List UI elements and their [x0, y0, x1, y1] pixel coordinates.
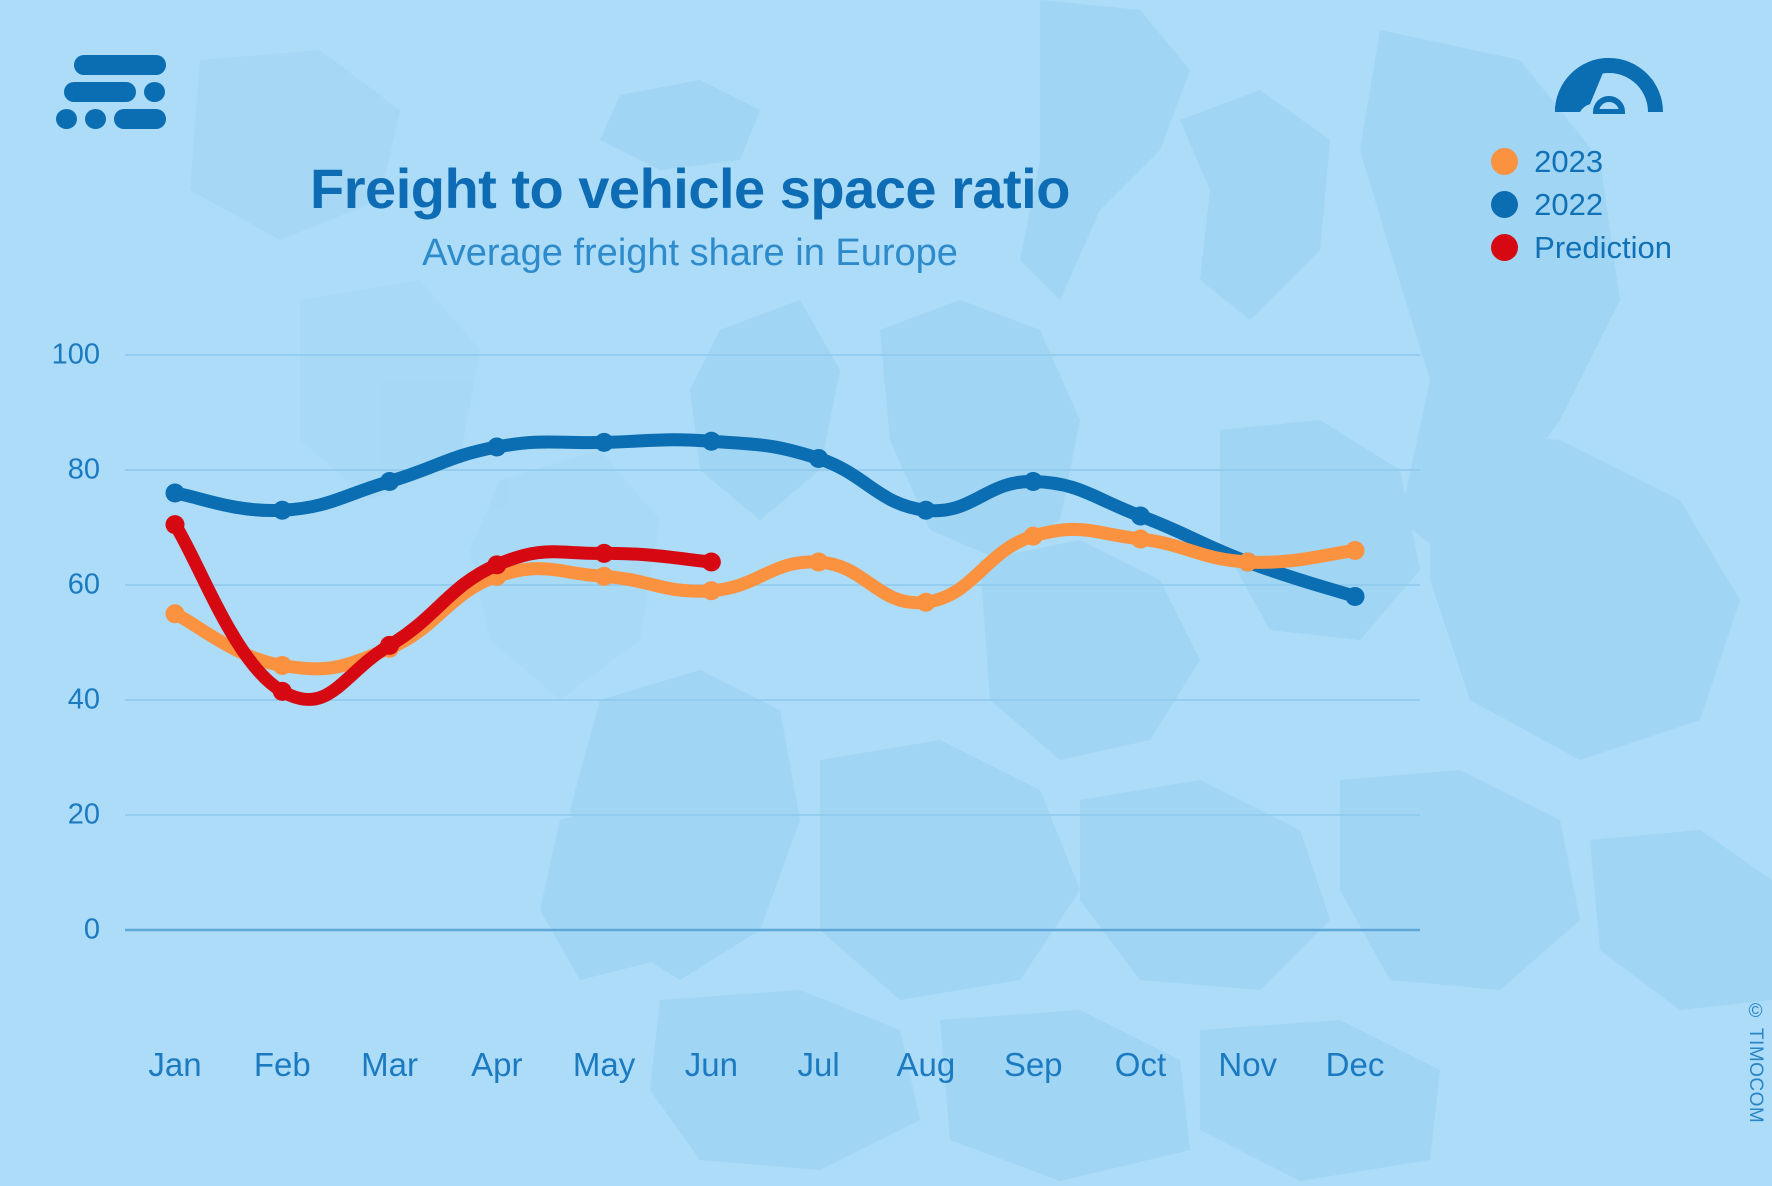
data-point: [1346, 587, 1365, 606]
data-point: [1131, 530, 1150, 549]
data-point: [702, 432, 721, 451]
x-tick-label-oct: Oct: [1080, 1046, 1200, 1084]
x-tick-label-nov: Nov: [1188, 1046, 1308, 1084]
y-tick-label: 60: [10, 569, 100, 602]
data-point: [1024, 472, 1043, 491]
x-tick-label-jun: Jun: [651, 1046, 771, 1084]
data-point: [1131, 507, 1150, 526]
data-point: [1346, 541, 1365, 560]
y-tick-label: 40: [10, 684, 100, 717]
y-tick-label: 0: [10, 914, 100, 947]
line-chart: 020406080100 JanFebMarAprMayJunJulAugSep…: [0, 0, 1772, 1181]
data-point: [595, 544, 614, 563]
series-2023: [166, 527, 1365, 675]
data-point: [380, 472, 399, 491]
data-point: [1238, 553, 1257, 572]
data-point: [916, 501, 935, 520]
series-prediction: [166, 515, 721, 701]
data-point: [273, 501, 292, 520]
data-point: [487, 555, 506, 574]
y-tick-label: 80: [10, 454, 100, 487]
data-point: [166, 604, 185, 623]
data-point: [916, 593, 935, 612]
data-point: [166, 484, 185, 503]
data-point: [809, 449, 828, 468]
x-tick-label-may: May: [544, 1046, 664, 1084]
plot-area: [0, 0, 1772, 1181]
data-point: [380, 636, 399, 655]
x-tick-label-sep: Sep: [973, 1046, 1093, 1084]
data-point: [809, 553, 828, 572]
data-point: [702, 581, 721, 600]
data-point: [595, 433, 614, 452]
data-point: [166, 515, 185, 534]
series-line: [175, 529, 1355, 668]
x-tick-label-apr: Apr: [437, 1046, 557, 1084]
x-tick-label-feb: Feb: [222, 1046, 342, 1084]
data-point: [487, 438, 506, 457]
copyright-notice: © TIMOCOM: [1744, 1001, 1766, 1123]
data-point: [1024, 527, 1043, 546]
x-tick-label-jan: Jan: [115, 1046, 235, 1084]
x-tick-label-mar: Mar: [330, 1046, 450, 1084]
y-tick-label: 100: [10, 339, 100, 372]
data-point: [595, 567, 614, 586]
x-tick-label-dec: Dec: [1295, 1046, 1415, 1084]
data-point: [273, 682, 292, 701]
x-tick-label-aug: Aug: [866, 1046, 986, 1084]
x-tick-label-jul: Jul: [759, 1046, 879, 1084]
data-point: [702, 553, 721, 572]
data-point: [273, 656, 292, 675]
y-tick-label: 20: [10, 799, 100, 832]
